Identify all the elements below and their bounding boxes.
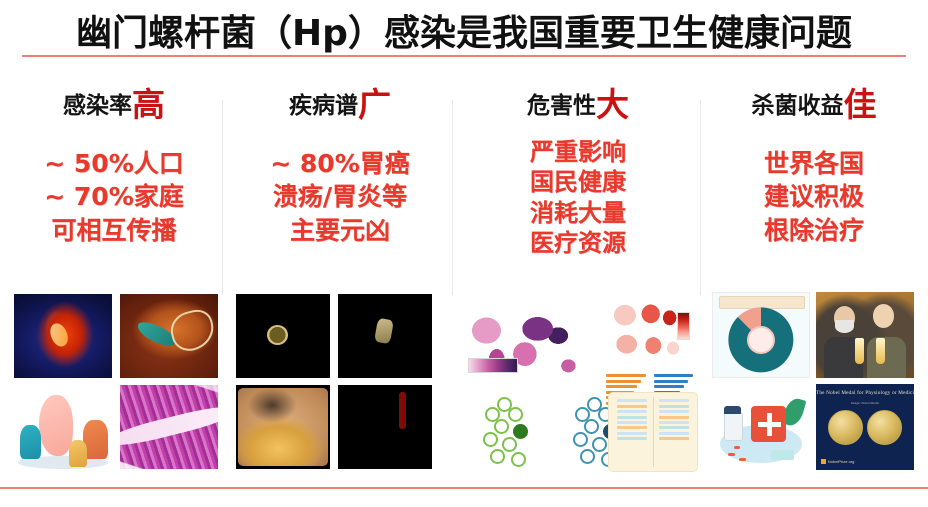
column-heading-prefix: 危害性 [527,93,596,119]
photo-beard [835,320,855,334]
infographic-right-column [653,397,695,467]
incidence-mortality-maps [606,298,692,364]
body-line: ~ 80%胃癌 [230,147,450,180]
footer-divider [0,487,928,489]
kit-cross-horizontal [758,422,781,427]
wheel-center-hub [747,326,776,355]
photo-beer-glass-right [876,338,885,364]
nobel-medal-reverse [867,410,902,445]
column-harm: 危害性大 严重影响 国民健康 消耗大量 医疗资源 [458,62,698,482]
kit-pill [728,453,735,456]
kit-blister-strip [771,450,795,459]
global-prevalence-figure [462,288,696,476]
slide-root: 幽门螺杆菌（Hp）感染是我国重要卫生健康问题 感染率高 ~ 50%人口 ~ 70… [0,0,928,507]
image-grid [236,294,436,469]
column-heading: 杀菌收益佳 [704,88,924,121]
column-disease-spectrum: 疾病谱广 ~ 80%胃癌 溃疡/胃炎等 主要元凶 [230,62,450,482]
column-body: ~ 50%人口 ~ 70%家庭 可相互传播 [6,147,222,247]
nobel-medal-obverse [828,410,863,445]
body-line: 消耗大量 [458,198,698,228]
column-divider-2 [452,100,453,295]
body-line: 根除治疗 [704,214,924,247]
column-divider-1 [222,100,223,295]
wheel-segments [728,307,793,372]
column-body: 严重影响 国民健康 消耗大量 医疗资源 [458,137,698,259]
map-legend-gradient [468,358,518,373]
body-line: 溃疡/胃炎等 [230,180,450,213]
body-line: 严重影响 [458,137,698,167]
cartoon-figure-c [69,440,87,467]
nobel-credit: NobelPrize.org [821,458,854,465]
photo-person-right-head [873,304,895,328]
body-line: 国民健康 [458,167,698,197]
nobel-title-text: The Nobel Medal for Physiology or Medici… [816,390,914,396]
body-line: 世界各国 [704,147,924,180]
kit-jar [724,412,744,442]
management-flow-infographic [608,392,698,472]
family-transmission-cartoon [14,385,112,469]
heatmap-legend [677,312,690,340]
column-heading-accent: 大 [596,85,629,124]
endoscopy-gastric-cancer [338,294,432,378]
page-title: 幽门螺杆菌（Hp）感染是我国重要卫生健康问题 [0,4,928,56]
nobel-credit-text: NobelPrize.org [828,459,854,464]
body-line: 可相互传播 [6,214,222,247]
stomach-illustration [14,294,112,378]
figure-canvas [462,288,696,476]
body-line: 主要元凶 [230,214,450,247]
column-heading: 危害性大 [458,88,698,121]
incidence-network-diagram [468,394,554,468]
photo-person-right-body [867,337,906,378]
body-line: 医疗资源 [458,228,698,258]
medical-kit-illustration [712,384,810,470]
body-line: ~ 50%人口 [6,147,222,180]
column-heading-accent: 佳 [844,85,877,124]
column-heading-accent: 广 [358,85,391,124]
image-grid [14,294,220,469]
gastric-histology-slide [120,385,218,469]
marshall-warren-photo [816,292,914,378]
column-heading-prefix: 疾病谱 [289,93,358,119]
image-grid: The Nobel Medal for Physiology or Medici… [712,292,916,470]
world-prevalence-map [466,302,594,386]
photo-beer-glass-left [855,338,864,364]
column-heading: 疾病谱广 [230,88,450,121]
helicobacter-microscopy [120,294,218,378]
infographic-left-column [611,397,654,467]
slide-header: 幽门螺杆菌（Hp）感染是我国重要卫生健康问题 [0,0,928,60]
columns-container: 感染率高 ~ 50%人口 ~ 70%家庭 可相互传播 疾病谱广 [0,62,928,482]
column-infection-rate: 感染率高 ~ 50%人口 ~ 70%家庭 可相互传播 [6,62,222,482]
column-body: 世界各国 建议积极 根除治疗 [704,147,924,247]
column-heading-prefix: 感染率 [63,93,132,119]
nobel-logo-icon [821,459,826,464]
kit-jar-cap [724,406,742,414]
body-line: ~ 70%家庭 [6,180,222,213]
body-line: 建议积极 [704,180,924,213]
column-eradication-benefit: 杀菌收益佳 世界各国 建议积极 根除治疗 [704,62,924,482]
nobel-subtitle-text: Image: Nobel Media [816,401,914,405]
column-heading-prefix: 杀菌收益 [752,93,844,119]
endoscopy-gastritis [236,385,330,469]
column-body: ~ 80%胃癌 溃疡/胃炎等 主要元凶 [230,147,450,247]
nobel-medal-image: The Nobel Medal for Physiology or Medici… [816,384,914,470]
column-heading-accent: 高 [132,85,165,124]
column-heading: 感染率高 [6,88,222,121]
endoscopy-gastric-ulcer [236,294,330,378]
endoscopy-bleeding-lesion [338,385,432,469]
column-divider-3 [700,100,701,295]
treatment-wheel-infographic [712,292,810,378]
title-divider [22,55,906,57]
